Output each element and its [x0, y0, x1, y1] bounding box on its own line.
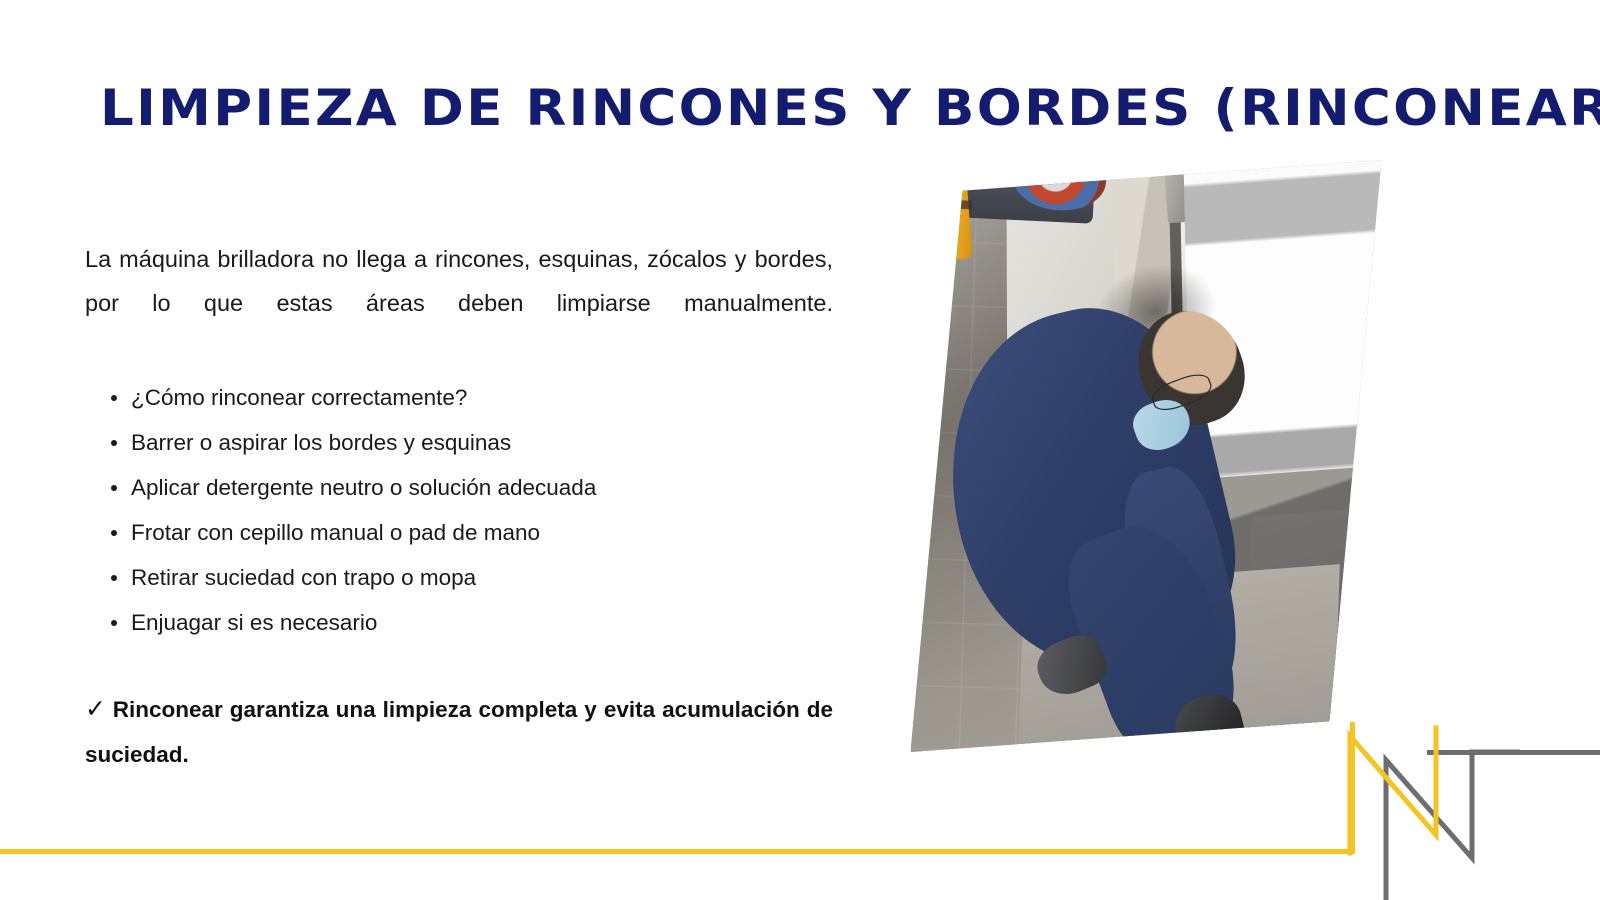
- photo-yellow-bucket: [911, 170, 973, 263]
- cleaning-photo: [911, 160, 1382, 752]
- lead-paragraph: La máquina brilladora no llega a rincone…: [85, 237, 833, 369]
- page-title: LIMPIEZA DE RINCONES Y BORDES (RINCONEAR…: [100, 78, 1584, 138]
- list-item: Aplicar detergente neutro o solución ade…: [131, 465, 833, 510]
- photo-frame: [911, 160, 1382, 752]
- list-item: ¿Cómo rinconear correctamente?: [131, 375, 833, 420]
- conclusion-statement: ✓Rinconear garantiza una limpieza comple…: [85, 687, 833, 822]
- brand-logo-n: [1340, 718, 1520, 900]
- photo-machine-handle: [917, 160, 1031, 174]
- bullet-list: ¿Cómo rinconear correctamente? Barrer o …: [85, 375, 833, 645]
- bottom-accent-line: [0, 849, 1355, 854]
- check-icon: ✓: [85, 695, 113, 723]
- list-item: Retirar suciedad con trapo o mopa: [131, 555, 833, 600]
- brand-logo-icon: [1340, 718, 1520, 900]
- list-item: Enjuagar si es necesario: [131, 600, 833, 645]
- content-column: La máquina brilladora no llega a rincone…: [85, 237, 833, 822]
- list-item: Frotar con cepillo manual o pad de mano: [131, 510, 833, 555]
- conclusion-text: Rinconear garantiza una limpieza complet…: [85, 697, 833, 767]
- list-item: Barrer o aspirar los bordes y esquinas: [131, 420, 833, 465]
- slide: LIMPIEZA DE RINCONES Y BORDES (RINCONEAR…: [0, 0, 1600, 900]
